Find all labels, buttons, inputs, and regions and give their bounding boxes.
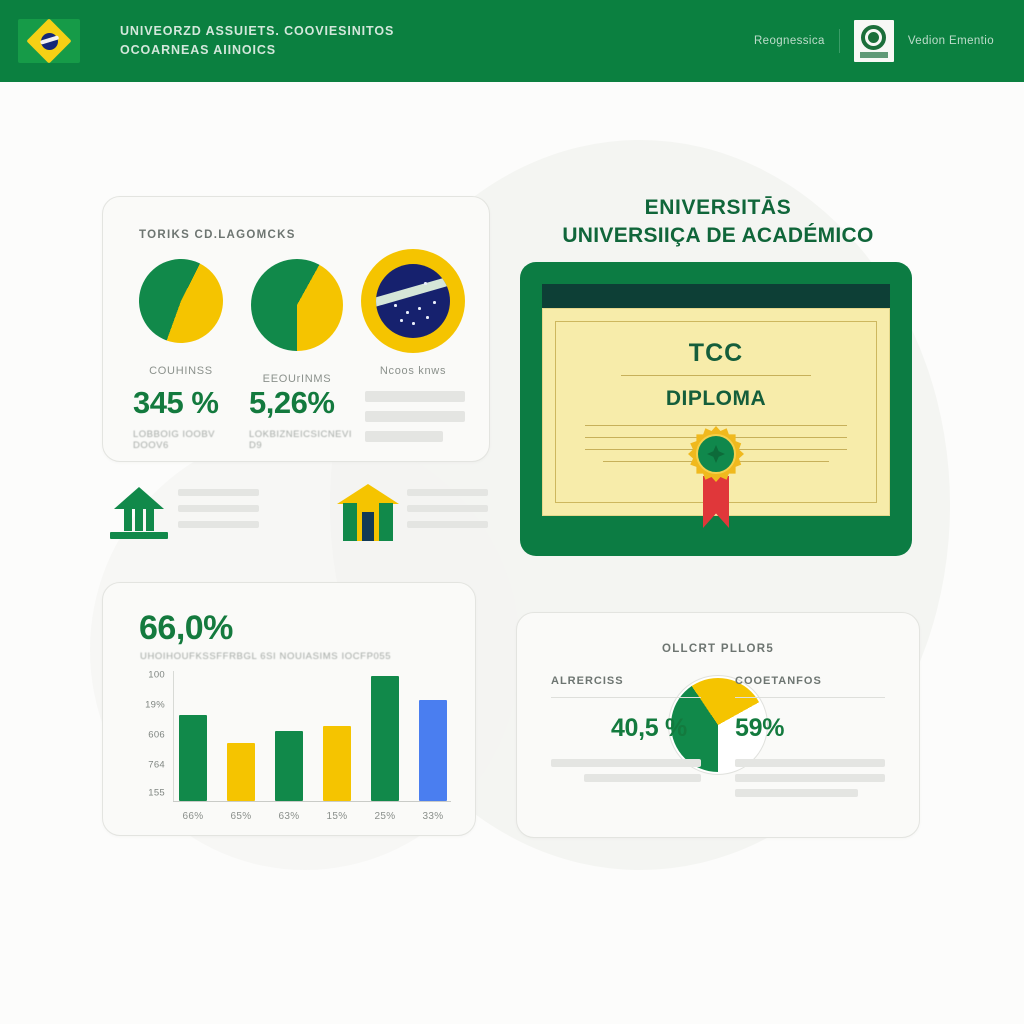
certificate-heading-line1: ENIVERSITĀS	[516, 196, 920, 220]
house-building-icon	[337, 484, 391, 542]
header-title-line2: OCOARNEAS AIINOICS	[120, 41, 394, 60]
bar-2[interactable]	[275, 731, 303, 801]
bar-chart-bars	[179, 671, 447, 801]
pie-cell-1: COUHINSS	[129, 259, 233, 385]
bar-0[interactable]	[179, 715, 207, 801]
placeholder-lines-group	[365, 385, 465, 451]
bar-chart-y-axis: 100 19% 606 764 155	[137, 671, 171, 801]
institution-icon-row	[108, 484, 488, 542]
x-tick-5: 33%	[419, 811, 447, 822]
certificate-heading-line2: UNIVERSIIÇA DE ACADÉMICO	[516, 224, 920, 248]
pie-cell-3: Ncoos knws	[361, 259, 465, 385]
house-placeholder-lines	[407, 489, 488, 537]
pie-cell-2: EEOUrINMS	[245, 259, 349, 385]
pie-label-3: Ncoos knws	[361, 365, 465, 377]
x-tick-1: 65%	[227, 811, 255, 822]
pie-breakdown-right-value: 59%	[735, 714, 885, 743]
y-tick-3: 764	[148, 760, 165, 771]
pie-chart-icon	[127, 247, 235, 355]
pies-card-stats: 345 % LOBBOIG IOOBV DOOV6 5,26% LOKBIZNE…	[133, 385, 465, 451]
header-label-secondary: Vedion Ementio	[908, 35, 994, 47]
university-seal-logo	[854, 20, 894, 62]
stat-block-2: 5,26% LOKBIZNEICSICNEVI D9	[249, 385, 365, 451]
bar-chart-x-axis: 66% 65% 63% 15% 25% 33%	[179, 811, 447, 822]
pie-chart-row: COUHINSS EEOUrINMS	[123, 259, 471, 385]
brazil-flag-icon	[18, 19, 80, 63]
bar-chart-card: 66,0% UHOIHOUFKSSFFRBGL 6SI NOUIASIMS IO…	[102, 582, 476, 836]
bar-3[interactable]	[323, 726, 351, 801]
pie-chart-icon	[251, 259, 343, 351]
pie-label-2: EEOUrINMS	[245, 373, 349, 385]
pie-breakdown-title: OLLCRT PLLOR5	[517, 643, 919, 655]
x-tick-4: 25%	[371, 811, 399, 822]
award-seal-icon	[688, 426, 744, 482]
bank-building-icon	[108, 485, 162, 541]
pie-breakdown-right-header: COOETANFOS	[735, 675, 885, 698]
x-tick-0: 66%	[179, 811, 207, 822]
header-title-line1: UNIVEORZD ASSUIETS. COOVIESINITOS	[120, 22, 394, 41]
stat-value-2: 5,26%	[249, 385, 365, 421]
stat-value-1: 345 %	[133, 385, 249, 421]
y-tick-2: 606	[148, 730, 165, 741]
bar-chart-subtitle: UHOIHOUFKSSFFRBGL 6SI NOUIASIMS IOCFP055	[140, 651, 391, 662]
header-label-primary: Reognessica	[754, 35, 825, 47]
bar-1[interactable]	[227, 743, 255, 802]
bar-chart-vertical-axis	[173, 671, 174, 801]
pie-breakdown-right-lines	[735, 759, 885, 797]
stat-block-1: 345 % LOBBOIG IOOBV DOOV6	[133, 385, 249, 451]
certificate-topbar	[542, 284, 890, 308]
pie-breakdown-left-header: ALRERCISS	[551, 675, 701, 698]
certificate-frame: TCC DIPLOMA	[520, 262, 912, 556]
bar-chart-horizontal-axis	[173, 801, 451, 802]
pie-breakdown-left-value: 40,5 %	[551, 714, 701, 743]
pie-breakdown-card: OLLCRT PLLOR5 ALRERCISS 40,5 % COOETANFO…	[516, 612, 920, 838]
pie-label-1: COUHINSS	[129, 365, 233, 377]
y-tick-0: 100	[148, 670, 165, 681]
header-title-block: UNIVEORZD ASSUIETS. COOVIESINITOS OCOARN…	[120, 22, 394, 61]
bank-placeholder-lines	[178, 489, 259, 537]
bar-5[interactable]	[419, 700, 447, 801]
y-tick-4: 155	[148, 788, 165, 799]
header-right-group: Reognessica Vedion Ementio	[754, 20, 994, 62]
certificate-subtitle: DIPLOMA	[543, 387, 889, 411]
stat-caption-2: LOKBIZNEICSICNEVI D9	[249, 429, 365, 451]
bar-4[interactable]	[371, 676, 399, 801]
pie-breakdown-left-lines	[551, 759, 701, 782]
pie-breakdown-right: COOETANFOS 59%	[735, 675, 885, 804]
ribbon-icon	[703, 476, 729, 528]
x-tick-3: 15%	[323, 811, 351, 822]
bar-chart-plot: 100 19% 606 764 155 66% 65% 63% 15%	[137, 671, 447, 801]
stat-caption-1: LOBBOIG IOOBV DOOV6	[133, 429, 249, 451]
page-header: UNIVEORZD ASSUIETS. COOVIESINITOS OCOARN…	[0, 0, 1024, 82]
pies-card-title: TORIKS CD.LAGOMCKS	[139, 229, 296, 241]
brazil-globe-icon	[361, 249, 465, 353]
x-tick-2: 63%	[275, 811, 303, 822]
certificate-title: TCC	[543, 339, 889, 368]
infographic-page: UNIVEORZD ASSUIETS. COOVIESINITOS OCOARN…	[0, 0, 1024, 1024]
bar-chart-kpi: 66,0%	[139, 609, 233, 648]
certificate-heading: ENIVERSITĀS UNIVERSIIÇA DE ACADÉMICO	[516, 196, 920, 248]
pies-card: TORIKS CD.LAGOMCKS COUHINSS EEOUrINMS	[102, 196, 490, 462]
y-tick-1: 19%	[145, 700, 165, 711]
header-divider	[839, 29, 840, 53]
pie-breakdown-left: ALRERCISS 40,5 %	[551, 675, 701, 789]
